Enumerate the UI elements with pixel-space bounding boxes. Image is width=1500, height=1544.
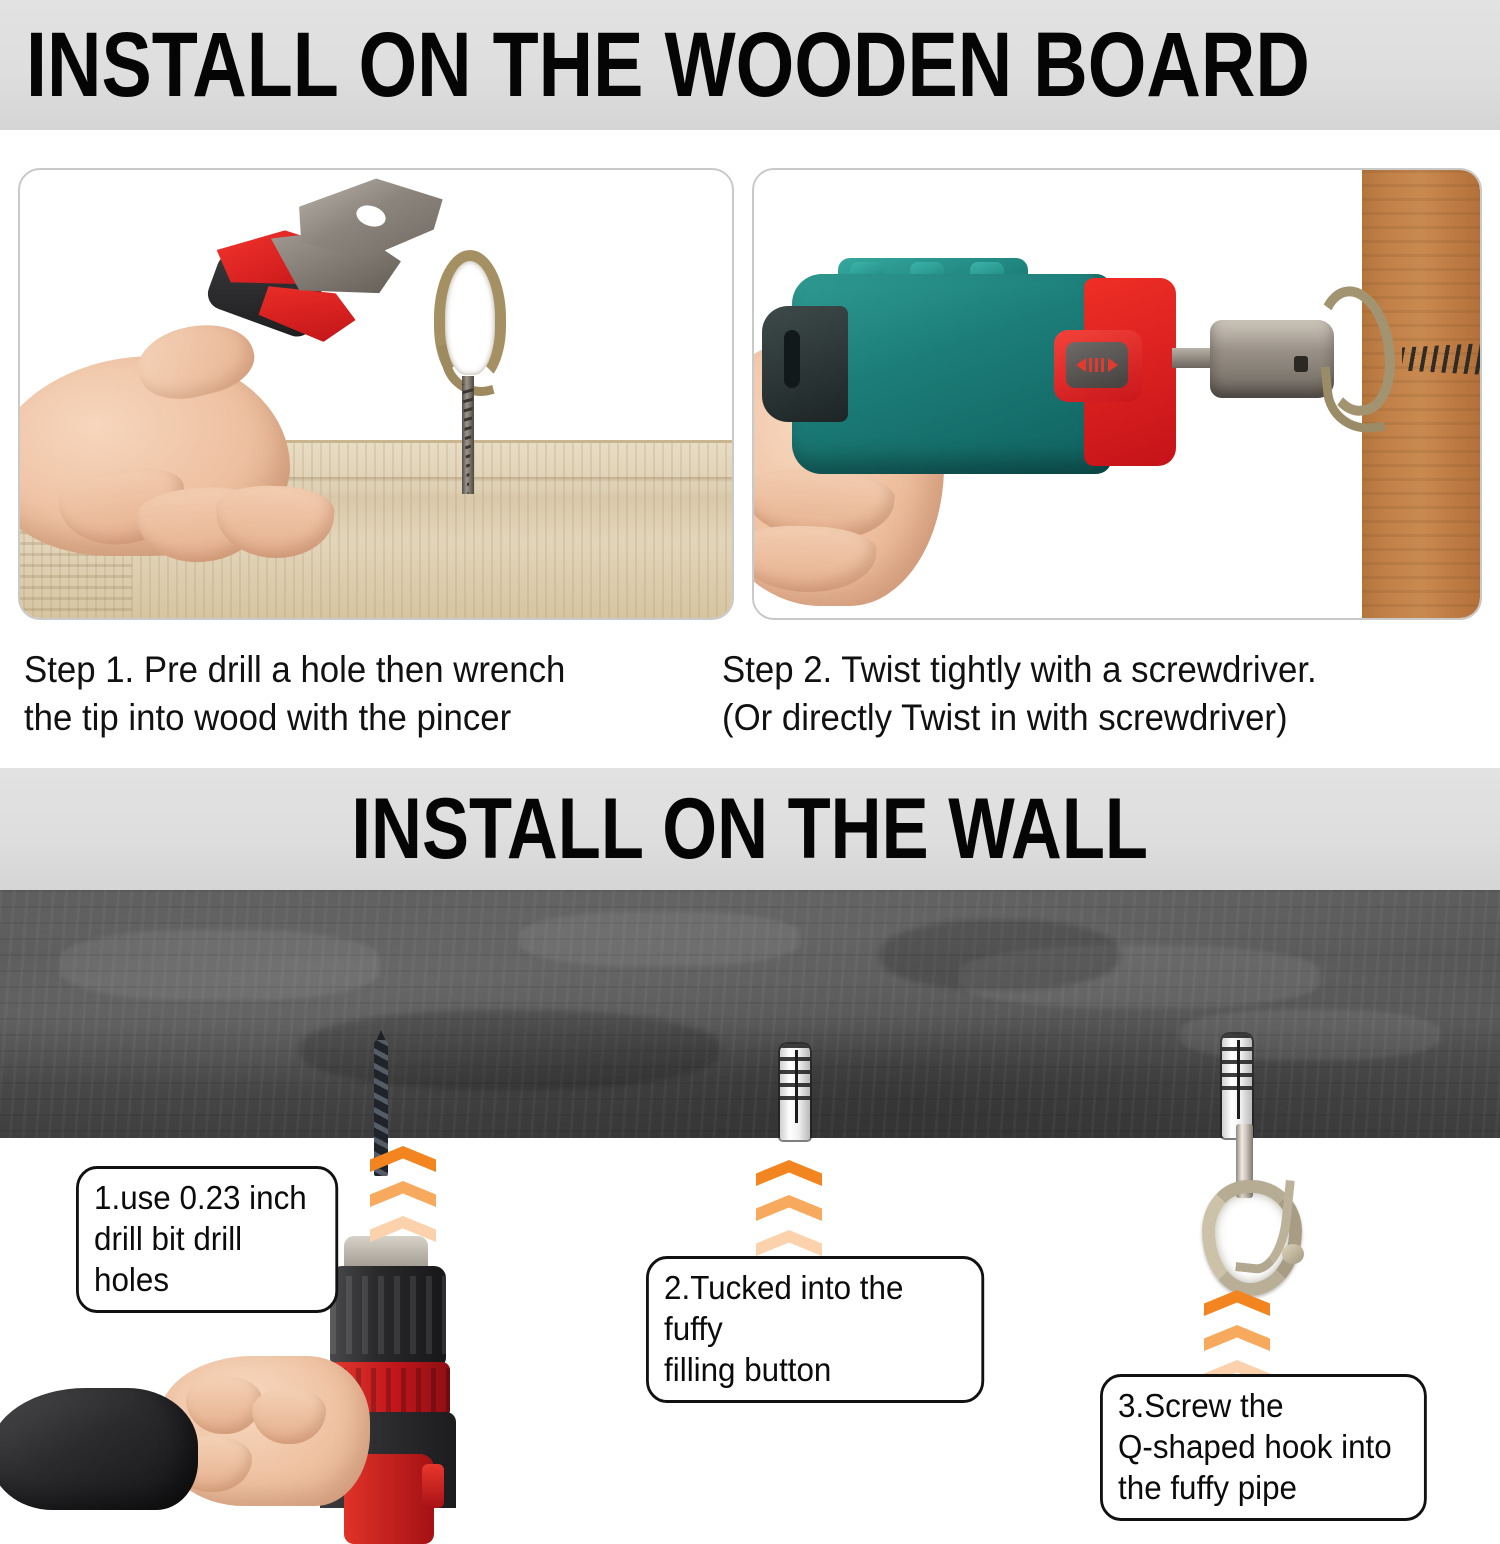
callout-step-3: 3.Screw the Q-shaped hook into the fuffy…: [1100, 1374, 1427, 1521]
step-1-caption: Step 1. Pre drill a hole then wrench the…: [24, 646, 682, 742]
chevron-up-icon: [756, 1230, 822, 1256]
callout-step-2: 2.Tucked into the fuffy filling button: [646, 1256, 984, 1403]
screw-thread: [454, 384, 482, 494]
concrete-wall-image: [0, 890, 1500, 1138]
arrow-right-icon: [1108, 358, 1118, 372]
drill-chuck-ribs: [330, 1276, 446, 1354]
chevron-up-icon: [1204, 1325, 1270, 1351]
chevron-up-icon: [370, 1146, 436, 1172]
chevron-up-icon: [756, 1160, 822, 1186]
step-2-caption: Step 2. Twist tightly with a screwdriver…: [722, 646, 1455, 742]
step-1-photo: [18, 168, 734, 620]
drill-battery: [0, 1388, 198, 1510]
wall-anchor-icon: [780, 1044, 810, 1140]
anchor-slit: [1237, 1040, 1240, 1119]
chevron-up-icon: [370, 1181, 436, 1207]
q-hook-icon: [1196, 1128, 1316, 1308]
callout-step-1: 1.use 0.23 inch drill bit drill holes: [76, 1166, 338, 1313]
driver-switch-indicator: [1066, 342, 1128, 388]
chevron-up-group: [370, 1146, 436, 1251]
arrow-left-icon: [1076, 358, 1086, 372]
section-header-wall: INSTALL ON THE WALL: [0, 768, 1500, 890]
driver-rear-grip: [762, 306, 848, 422]
anchor-slit: [795, 1050, 798, 1123]
wall-title: INSTALL ON THE WALL: [352, 786, 1149, 872]
drill-trigger: [422, 1464, 444, 1508]
step-2-photo: [752, 168, 1482, 620]
chevron-up-icon: [756, 1195, 822, 1221]
q-hook-screw-image: [418, 248, 518, 504]
chevron-up-icon: [1204, 1290, 1270, 1316]
switch-bars-icon: [1089, 358, 1105, 372]
screw-thread: [1402, 342, 1482, 376]
q-hook-tongue: [1321, 361, 1386, 437]
q-hook-tip: [1282, 1244, 1304, 1264]
socket-pin-hole: [1294, 356, 1308, 372]
driver-vent-slot: [784, 330, 800, 388]
chevron-up-group: [756, 1160, 822, 1265]
chevron-up-icon: [370, 1216, 436, 1242]
section-header-wooden-board: INSTALL ON THE WOODEN BOARD: [0, 0, 1500, 130]
wall-anchor-icon: [1222, 1034, 1252, 1138]
wooden-board-title: INSTALL ON THE WOODEN BOARD: [26, 19, 1310, 111]
infographic-page: INSTALL ON THE WOODEN BOARD: [0, 0, 1500, 1500]
